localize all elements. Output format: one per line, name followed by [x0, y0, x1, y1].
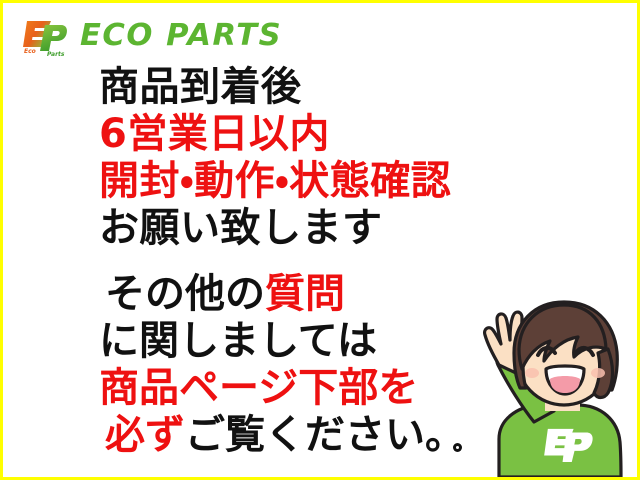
- message-secondary-line-3: 商品ページ下部を: [99, 365, 465, 412]
- message-secondary-line-2-segment-1: に関しましては: [99, 318, 377, 364]
- message-secondary-line-4-segment-2: ご覧ください。: [185, 412, 465, 458]
- message-secondary-line-1: その他の質問: [99, 271, 465, 318]
- message-primary-line-1: 商品到着後: [99, 64, 451, 111]
- ep-monogram-logo-icon: Eco Parts: [21, 15, 69, 57]
- message-secondary-line-4-segment-1: 必ず: [105, 412, 185, 458]
- brand-header: Eco Parts ECO PARTS: [21, 14, 278, 58]
- message-secondary-line-4: 必ずご覧ください。: [99, 412, 465, 459]
- ink-speck: [453, 443, 462, 452]
- waving-woman-mascot-icon: [442, 287, 634, 477]
- message-secondary-line-1-segment-1: その他の: [105, 271, 265, 317]
- message-primary-line-2: 6営業日以内: [99, 111, 451, 158]
- svg-text:Parts: Parts: [47, 51, 65, 57]
- notice-banner: Eco Parts ECO PARTS 商品到着後 6営業日以内 開封・動作・状…: [0, 0, 640, 480]
- brand-wordmark: ECO PARTS: [80, 21, 282, 51]
- svg-text:Eco: Eco: [24, 48, 36, 55]
- shirt-ep-monogram-icon: [544, 429, 593, 462]
- message-primary: 商品到着後 6営業日以内 開封・動作・状態確認 お願い致します: [99, 64, 451, 252]
- message-secondary-line-1-segment-2: 質問: [265, 271, 345, 317]
- message-secondary-line-3-segment-1: 商品ページ下部を: [99, 365, 418, 411]
- message-secondary: その他の質問 に関しましては 商品ページ下部を 必ずご覧ください。: [99, 271, 465, 459]
- message-primary-line-4: お願い致します: [99, 205, 451, 252]
- message-secondary-line-2: に関しましては: [99, 318, 465, 365]
- message-primary-line-3: 開封・動作・状態確認: [99, 158, 451, 205]
